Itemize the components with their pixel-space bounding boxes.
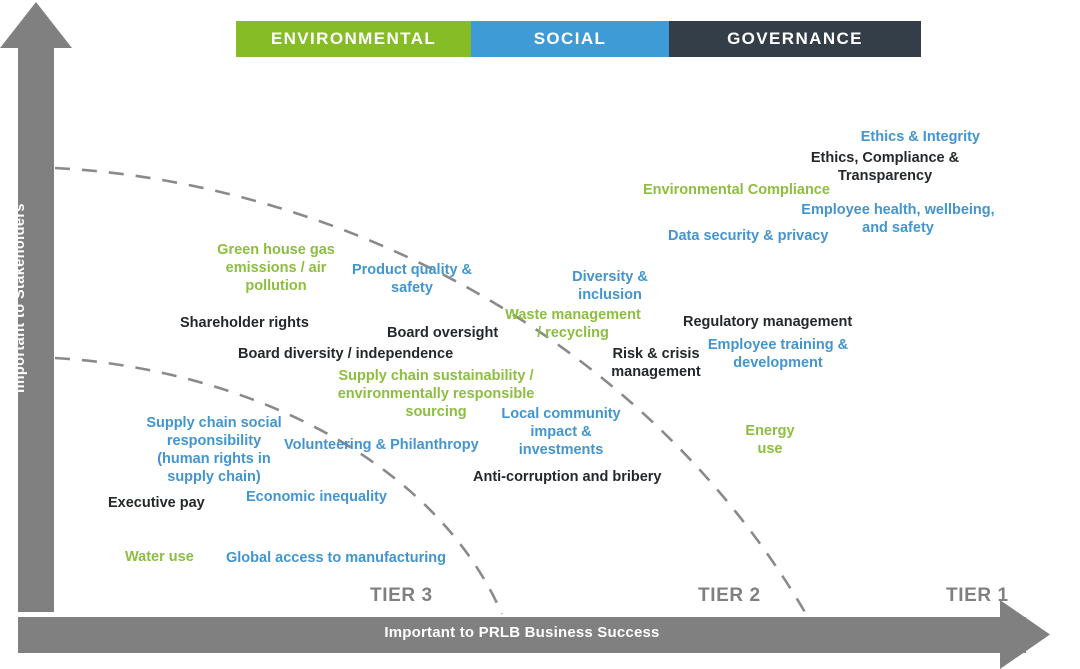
topic-label: Ethics, Compliance & Transparency (785, 150, 985, 186)
tier-label-tier-1: TIER 1 (946, 585, 1009, 607)
topic-label: Shareholder rights (180, 315, 340, 333)
legend-item-environmental: ENVIRONMENTAL (236, 21, 471, 57)
topic-label: Employee training & development (698, 337, 858, 373)
tier-label-tier-2: TIER 2 (698, 585, 761, 607)
legend-label-governance: GOVERNANCE (727, 29, 863, 49)
topic-label: Environmental Compliance (643, 182, 873, 200)
topic-label: Local community impact & investments (495, 406, 627, 460)
x-axis-label: Important to PRLB Business Success (18, 624, 1026, 641)
materiality-matrix: ENVIRONMENTAL SOCIAL GOVERNANCE Importan… (0, 0, 1080, 669)
y-axis-bar (18, 44, 54, 612)
y-axis-arrow-icon (0, 2, 72, 48)
topic-label: Supply chain social responsibility (huma… (137, 415, 291, 487)
topic-label: Executive pay (108, 495, 228, 513)
topic-label: Ethics & Integrity (740, 129, 980, 147)
topic-label: Economic inequality (246, 489, 412, 507)
topic-label: Risk & crisis management (602, 346, 710, 382)
topic-label: Volunteering & Philanthropy (284, 437, 508, 455)
topic-label: Board diversity / independence (238, 346, 488, 364)
legend-label-environmental: ENVIRONMENTAL (271, 29, 436, 49)
topic-label: Water use (125, 549, 217, 567)
topic-label: Diversity & inclusion (551, 269, 669, 305)
topic-label: Product quality & safety (339, 262, 485, 298)
esg-category-legend: ENVIRONMENTAL SOCIAL GOVERNANCE (236, 21, 921, 57)
topic-label: Board oversight (387, 325, 523, 343)
legend-label-social: SOCIAL (534, 29, 607, 49)
topic-label: Anti-corruption and bribery (473, 469, 693, 487)
topic-label: Global access to manufacturing (226, 550, 476, 568)
legend-item-social: SOCIAL (471, 21, 669, 57)
tier-label-tier-3: TIER 3 (370, 585, 433, 607)
topic-label: Regulatory management (683, 314, 883, 332)
topic-label: Energy use (738, 423, 802, 459)
topic-label: Green house gas emissions / air pollutio… (196, 242, 356, 296)
legend-item-governance: GOVERNANCE (669, 21, 921, 57)
topic-label: Data security & privacy (668, 228, 858, 246)
